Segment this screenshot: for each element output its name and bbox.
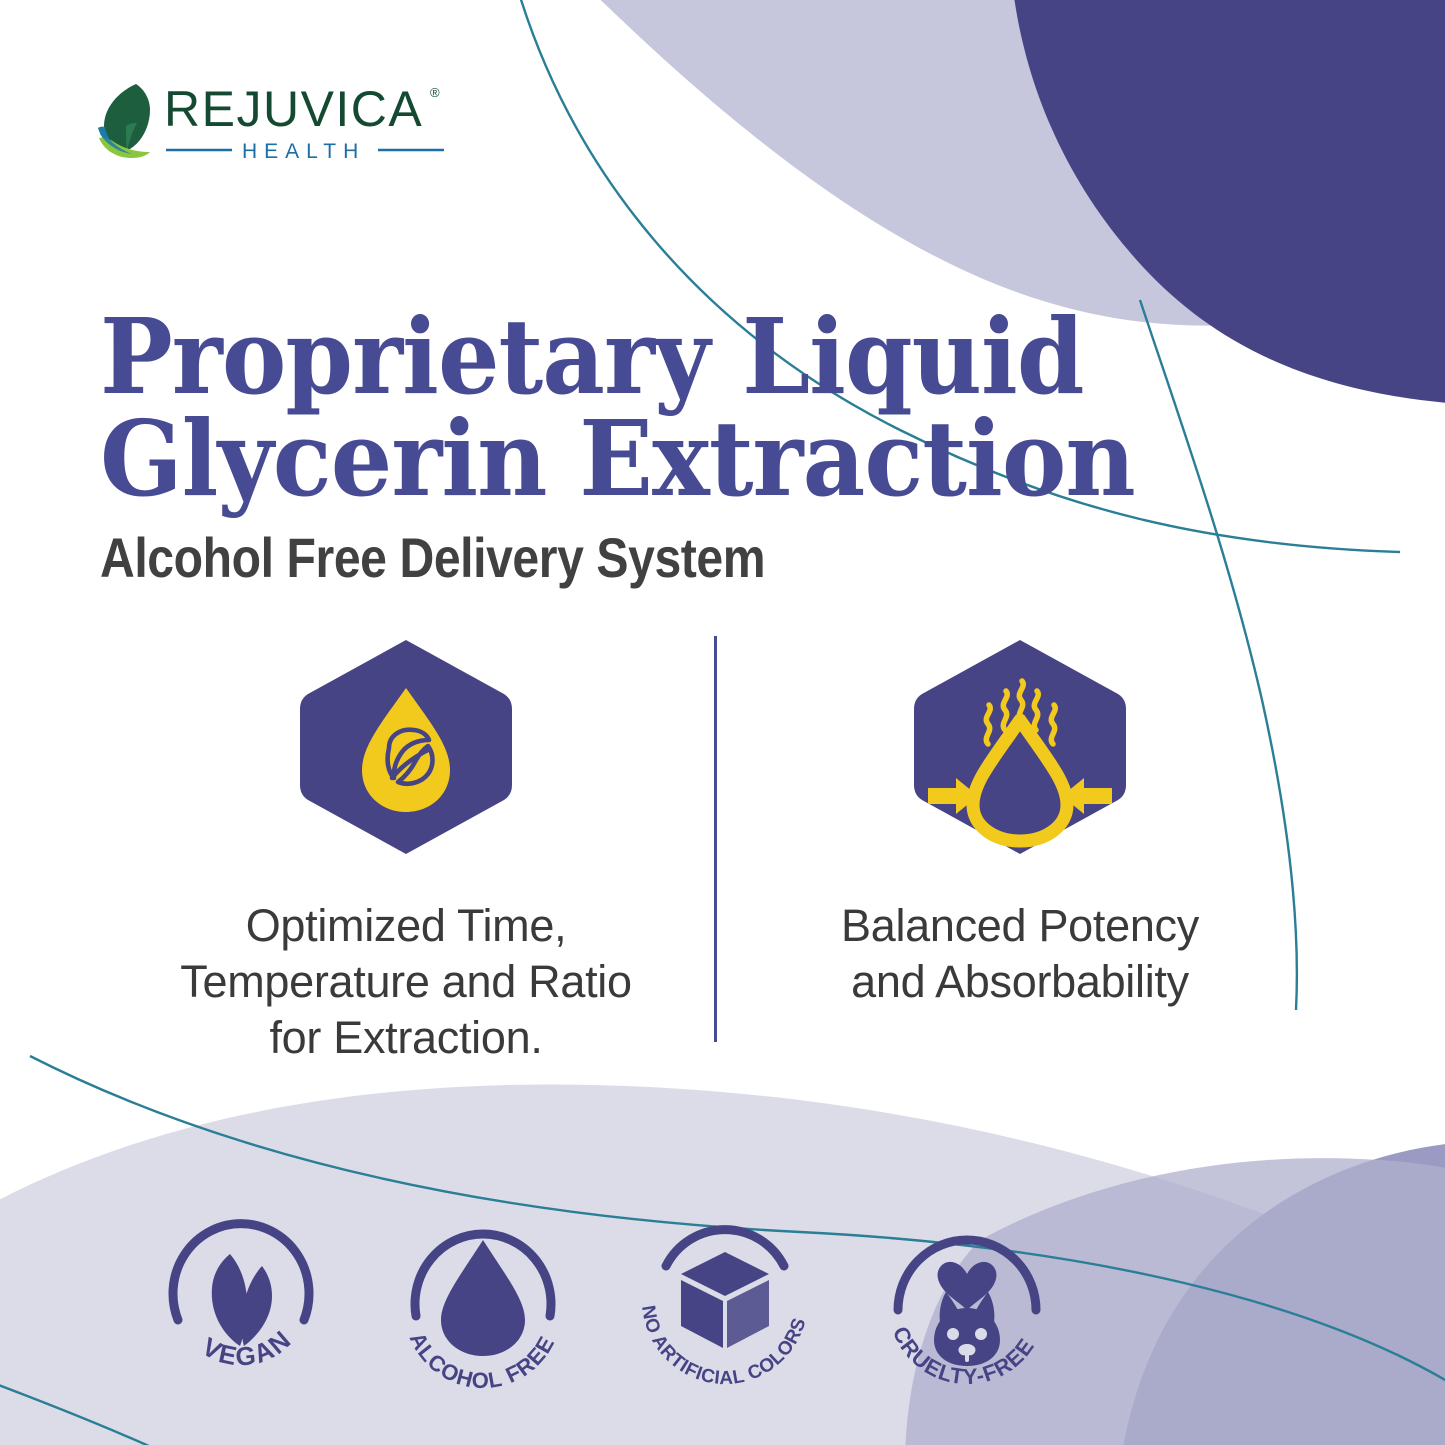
feature-caption-line-1: Balanced Potency bbox=[740, 898, 1300, 954]
hexagon-shape bbox=[914, 640, 1126, 854]
feature-icon-wrap bbox=[126, 636, 686, 858]
badge-label: NO ARTIFICIAL COLORS bbox=[637, 1304, 811, 1389]
feature-caption: Optimized Time, Temperature and Ratio fo… bbox=[126, 898, 686, 1065]
glycerin-droplet-leaf-hex-icon bbox=[290, 636, 522, 858]
feature-card-balanced-potency: Balanced Potency and Absorbability bbox=[740, 636, 1300, 1010]
feature-caption-line-2: and Absorbability bbox=[740, 954, 1300, 1010]
page-title: Proprietary Liquid Glycerin Extraction bbox=[100, 306, 1197, 510]
page-subtitle: Alcohol Free Delivery System bbox=[100, 530, 765, 586]
cruelty-free-bunny-badge-icon[interactable]: CRUELTY-FREE bbox=[878, 1204, 1056, 1390]
no-artificial-colors-cube-badge-icon[interactable]: NO ARTIFICIAL COLORS bbox=[636, 1204, 814, 1390]
feature-card-optimized-extraction: Optimized Time, Temperature and Ratio fo… bbox=[126, 636, 686, 1065]
feature-caption-line-2: Temperature and Ratio bbox=[126, 954, 686, 1010]
tagline-text: HEALTH bbox=[242, 140, 365, 163]
certification-badge-row: VEGAN ALCOHOL FREE bbox=[0, 1204, 1445, 1390]
alcohol-free-droplet-badge-icon[interactable]: ALCOHOL FREE bbox=[394, 1204, 572, 1390]
page-title-line-1: Proprietary Liquid bbox=[100, 306, 1197, 408]
rejuvica-wordmark: REJUVICA ® HEALTH bbox=[164, 80, 454, 164]
wordmark-text: REJUVICA bbox=[164, 81, 423, 137]
brand-logo[interactable]: REJUVICA ® HEALTH bbox=[96, 82, 456, 172]
poster-canvas: REJUVICA ® HEALTH Proprietary Liquid Gly… bbox=[0, 0, 1445, 1445]
cube-glyph bbox=[681, 1252, 769, 1348]
feature-caption-line-1: Optimized Time, bbox=[126, 898, 686, 954]
feature-divider bbox=[714, 636, 717, 1042]
vegan-leaves-badge-icon[interactable]: VEGAN bbox=[152, 1204, 330, 1390]
feature-caption-line-3: for Extraction. bbox=[126, 1010, 686, 1066]
feature-caption: Balanced Potency and Absorbability bbox=[740, 898, 1300, 1010]
page-title-line-2: Glycerin Extraction bbox=[100, 408, 1197, 510]
droplet-glyph bbox=[441, 1240, 525, 1356]
registered-trademark-symbol: ® bbox=[430, 85, 440, 100]
heated-droplet-compression-hex-icon bbox=[904, 636, 1136, 858]
rejuvica-leaf-mark-icon bbox=[96, 82, 158, 164]
feature-icon-wrap bbox=[740, 636, 1300, 858]
